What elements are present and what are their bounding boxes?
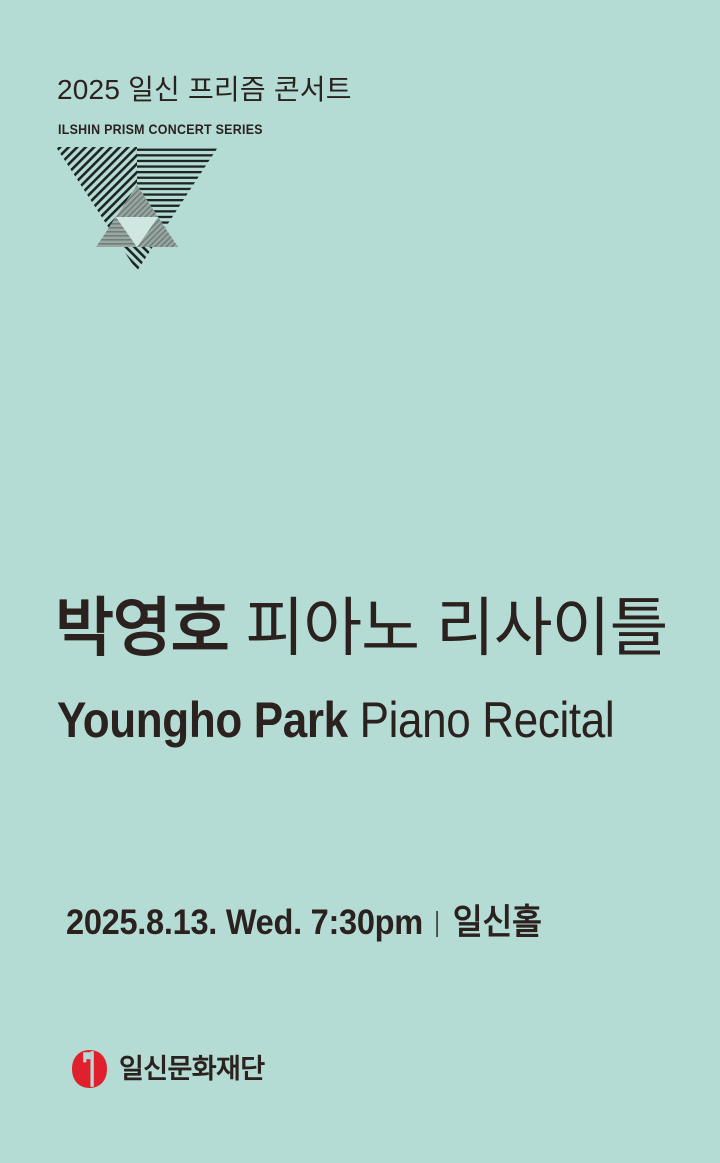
ilshin-foundation-mark-icon: [71, 1049, 108, 1089]
foundation-name: 일신문화재단: [119, 1056, 264, 1083]
schedule-separator: [436, 911, 438, 937]
schedule-date-time: 2025.8.13. Wed. 7:30pm: [66, 905, 423, 940]
recital-title-english: Youngho Park Piano Recital: [57, 694, 614, 746]
venue-name: 일신홀: [453, 905, 542, 940]
schedule-line: 2025.8.13. Wed. 7:30pm 일신홀: [66, 905, 542, 940]
series-title-english: ILSHIN PRISM CONCERT SERIES: [58, 123, 263, 137]
foundation-brand: 일신문화재단: [71, 1048, 264, 1090]
recital-kind-korean: 피아노 리사이틀: [245, 592, 667, 664]
concert-poster: 2025 일신 프리즘 콘서트 ILSHIN PRISM CONCERT SER…: [0, 0, 720, 1163]
recital-kind-english: Piano Recital: [360, 692, 615, 748]
recital-title-korean: 박영호 피아노 리사이틀: [55, 596, 667, 661]
performer-name-korean: 박영호: [55, 592, 229, 664]
series-title-korean: 2025 일신 프리즘 콘서트: [57, 76, 352, 104]
performer-name-english: Youngho Park: [57, 692, 348, 748]
prism-triangle-icon: [54, 143, 220, 273]
